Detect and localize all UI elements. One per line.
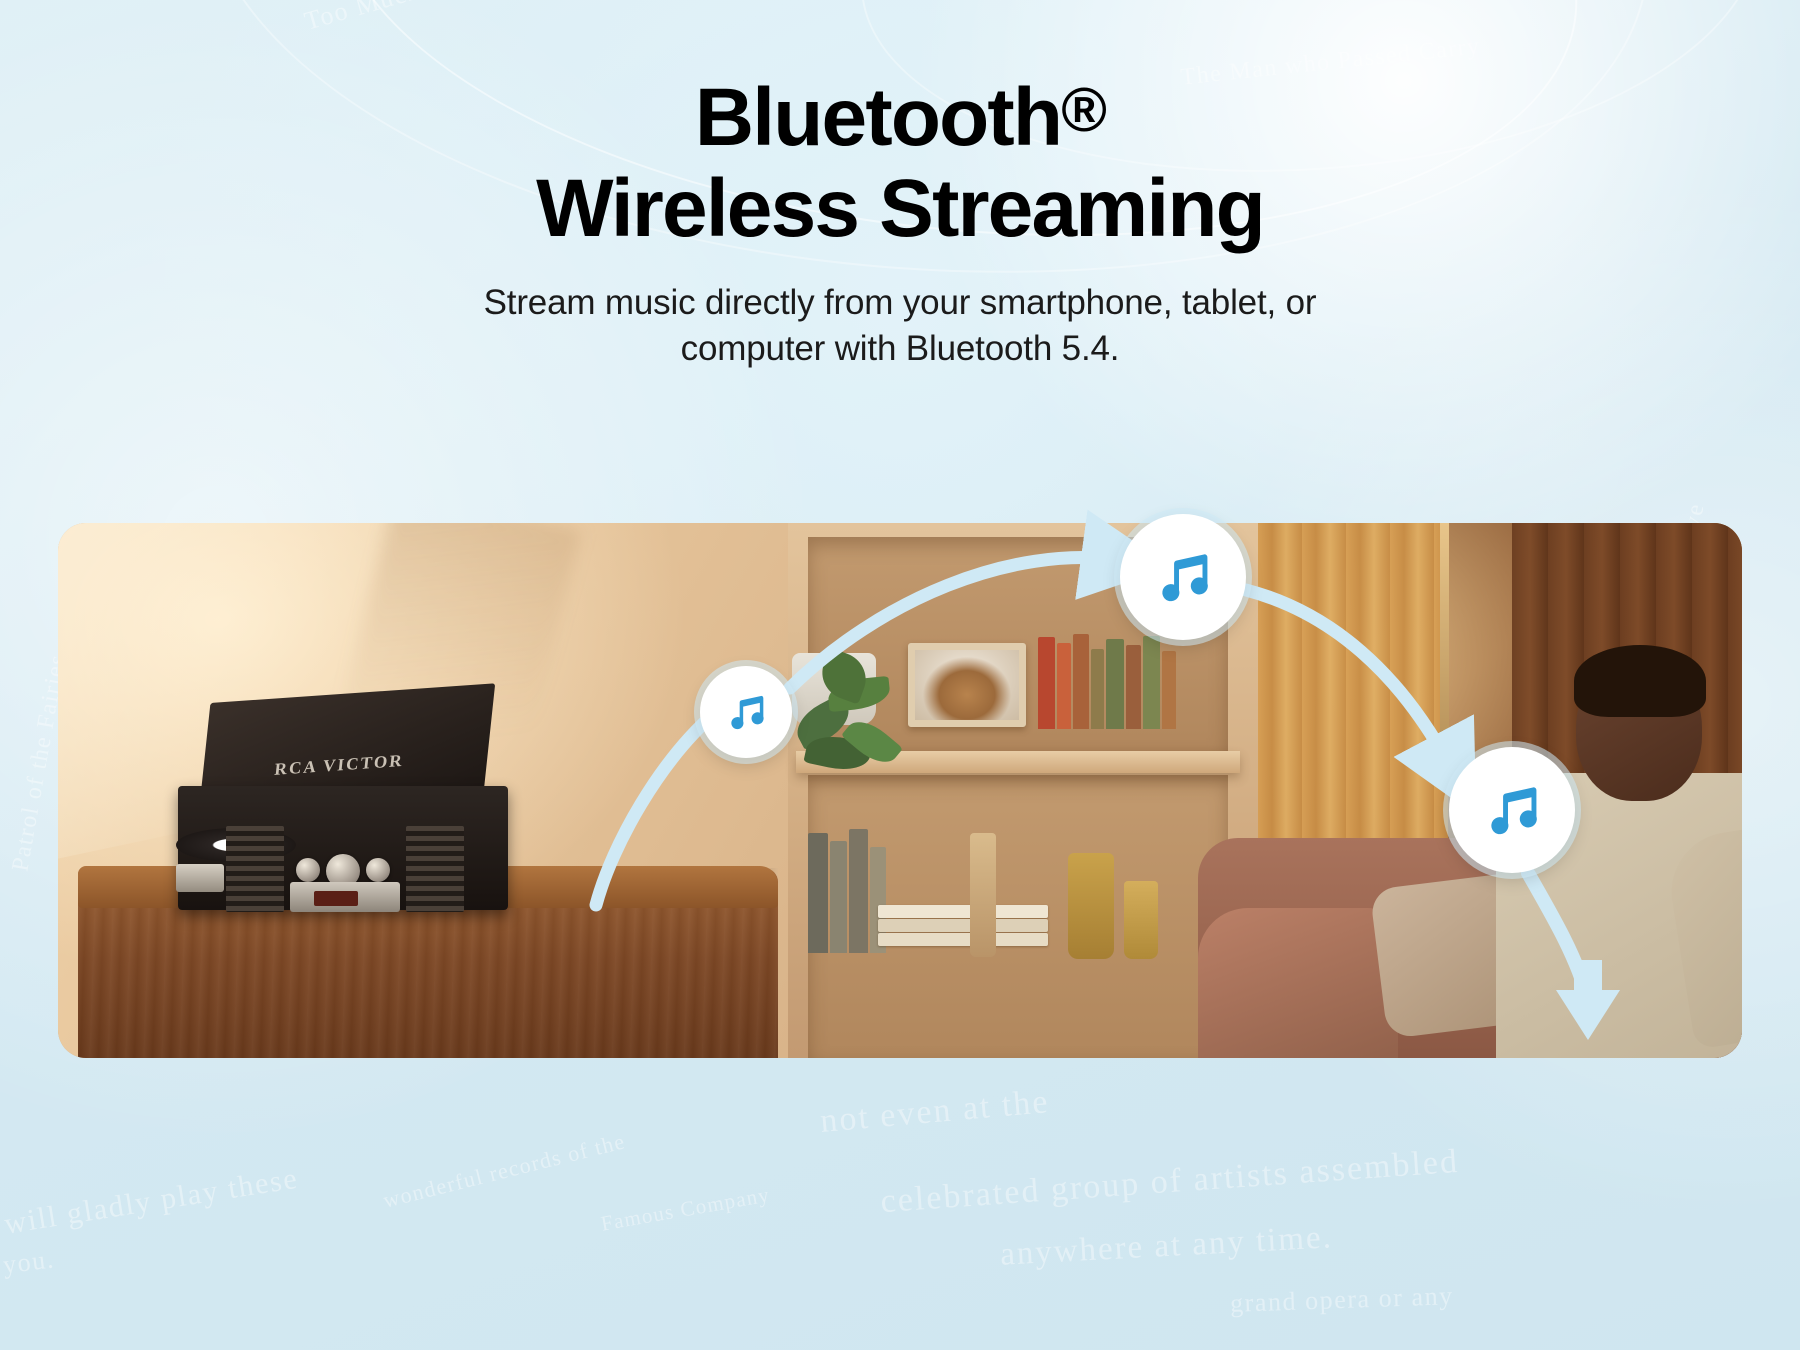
watermark-line: not even at the	[818, 1070, 1053, 1154]
books-upper-shelf	[1038, 631, 1188, 729]
turntable-brand-label: RCA VICTOR	[242, 721, 439, 782]
cassette-deck	[176, 864, 224, 892]
watermark-line: Too Much / Pierre Hill	[298, 0, 572, 46]
brass-vase-small	[1124, 881, 1158, 959]
page-subtitle-line-2: computer with Bluetooth 5.4.	[681, 329, 1120, 368]
floor-lamp	[1440, 523, 1449, 783]
music-note-icon	[724, 690, 768, 734]
control-knob-right	[366, 858, 390, 882]
led-display	[314, 891, 358, 906]
speaker-grill-right	[406, 826, 464, 912]
registered-mark: ®	[1061, 76, 1105, 145]
page-title-line-2: Wireless Streaming	[536, 163, 1264, 254]
music-note-badge-1	[700, 666, 792, 758]
brass-vase-large	[1068, 853, 1114, 959]
person-hair	[1574, 645, 1706, 717]
candle-holder	[970, 833, 996, 957]
speaker-grill-left	[226, 826, 284, 912]
header: Bluetooth® Wireless Streaming Stream mus…	[0, 72, 1800, 372]
watermark-line: wonderful records of the	[379, 1121, 630, 1222]
watermark-line: celebrated group of artists assembled	[878, 1130, 1461, 1235]
music-note-badge-2	[1120, 514, 1246, 640]
page-subtitle: Stream music directly from your smartpho…	[0, 280, 1800, 372]
page-title: Bluetooth® Wireless Streaming	[0, 72, 1800, 254]
watermark-line: anywhere at any time.	[999, 1206, 1335, 1286]
promo-banner: dealer will gladly play these for you. w…	[0, 0, 1800, 1350]
dog-photo-frame	[908, 643, 1026, 727]
watermark-line: for you.	[0, 1234, 57, 1295]
control-knob-left	[296, 858, 320, 882]
music-note-icon	[1152, 546, 1214, 608]
page-title-line-1: Bluetooth	[695, 72, 1061, 163]
watermark-line: dealer will gladly play these	[0, 1150, 302, 1267]
music-note-badge-3	[1449, 747, 1575, 873]
watermark-line: grand opera or any	[1229, 1271, 1454, 1328]
music-note-icon	[1481, 779, 1543, 841]
sofa-arm	[1198, 908, 1398, 1058]
page-subtitle-line-1: Stream music directly from your smartpho…	[484, 283, 1317, 322]
stacked-books	[878, 905, 1048, 953]
watermark-line: Famous Company	[598, 1175, 773, 1244]
potted-plant	[792, 653, 876, 725]
